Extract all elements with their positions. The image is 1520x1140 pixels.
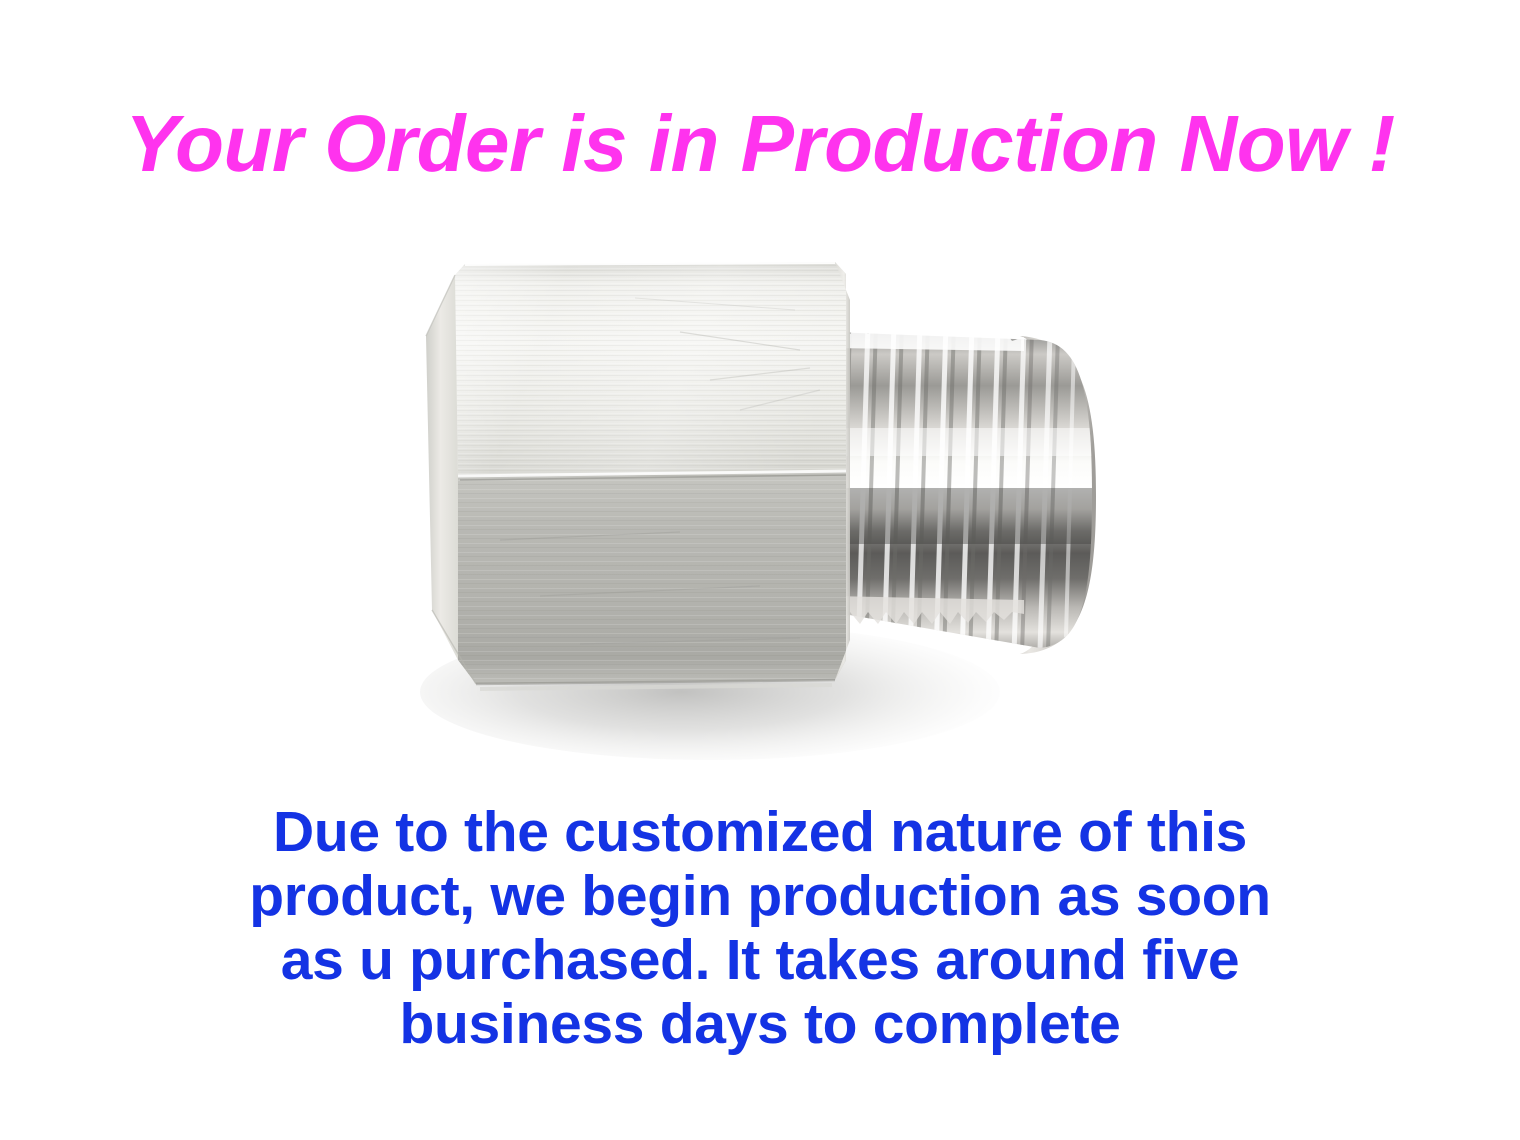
hex-threaded-adapter-photo	[380, 240, 1210, 760]
promo-image-canvas: Your Order is in Production Now !	[0, 0, 1520, 1140]
threaded-shank	[820, 322, 1110, 658]
product-photo	[380, 240, 1210, 760]
body-line-2: product, we begin production as soon	[140, 864, 1380, 928]
body-line-1: Due to the customized nature of this	[140, 800, 1380, 864]
page-title: Your Order is in Production Now !	[0, 96, 1520, 192]
body-line-3: as u purchased. It takes around five	[140, 928, 1380, 992]
body-copy: Due to the customized nature of this pro…	[140, 800, 1380, 1056]
body-line-4: business days to complete	[140, 992, 1380, 1056]
hex-body	[426, 258, 860, 694]
